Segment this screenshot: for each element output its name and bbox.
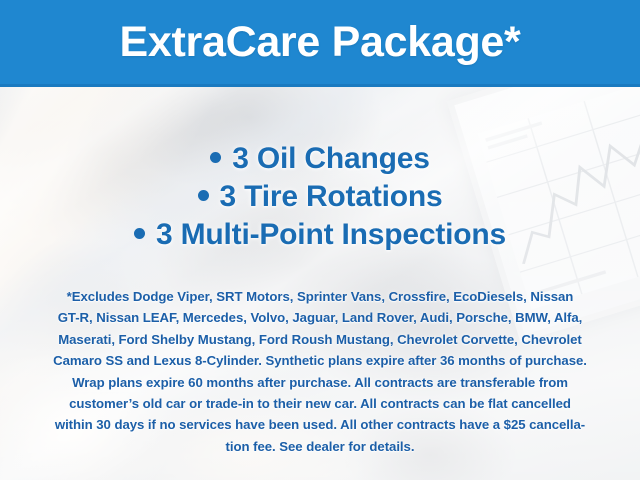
benefit-label: 3 Tire Rotations — [220, 180, 443, 213]
bullet-dot-icon — [134, 228, 145, 239]
extracare-promo-card: ExtraCare Package* 3 Oil Changes 3 Tire … — [0, 0, 640, 480]
disclaimer-line: Wrap plans expire 60 months after purcha… — [30, 372, 610, 393]
page-title: ExtraCare Package* — [120, 21, 521, 64]
benefit-label: 3 Multi-Point Inspections — [156, 218, 506, 251]
bullet-dot-icon — [210, 152, 221, 163]
bullet-dot-icon — [198, 190, 209, 201]
header-banner: ExtraCare Package* — [0, 0, 640, 87]
disclaimer-line: customer’s old car or trade-in to their … — [30, 393, 610, 414]
disclaimer-line: *Excludes Dodge Viper, SRT Motors, Sprin… — [30, 286, 610, 307]
benefit-item-tire-rotations: 3 Tire Rotations — [0, 178, 640, 216]
benefit-item-oil-changes: 3 Oil Changes — [0, 140, 640, 178]
benefit-label: 3 Oil Changes — [232, 142, 429, 175]
benefits-list: 3 Oil Changes 3 Tire Rotations 3 Multi-P… — [0, 140, 640, 254]
disclaimer-text: *Excludes Dodge Viper, SRT Motors, Sprin… — [30, 286, 610, 457]
disclaimer-line: tion fee. See dealer for details. — [30, 436, 610, 457]
disclaimer-line: GT-R, Nissan LEAF, Mercedes, Volvo, Jagu… — [30, 307, 610, 328]
disclaimer-line: within 30 days if no services have been … — [30, 414, 610, 435]
benefit-item-multi-point-inspections: 3 Multi-Point Inspections — [0, 216, 640, 254]
disclaimer-line: Maserati, Ford Shelby Mustang, Ford Rous… — [30, 329, 610, 350]
disclaimer-line: Camaro SS and Lexus 8-Cylinder. Syntheti… — [30, 350, 610, 371]
